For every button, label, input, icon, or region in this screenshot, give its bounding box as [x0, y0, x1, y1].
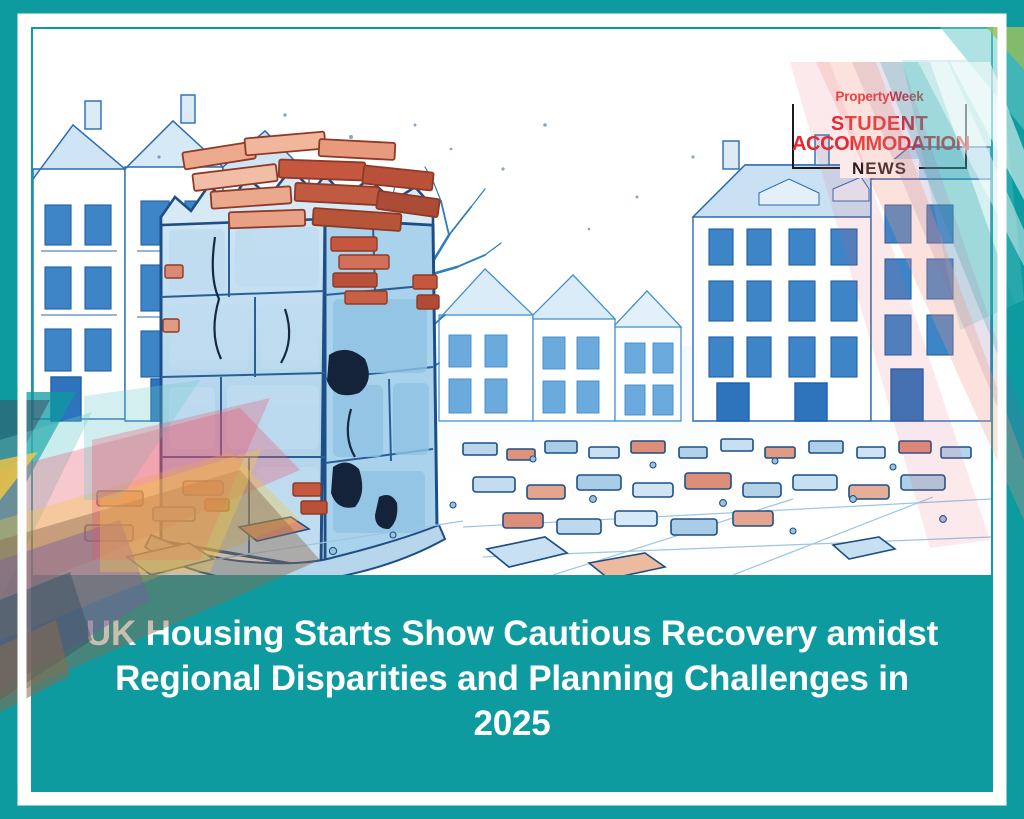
logo-property-week: PropertyWeek — [792, 89, 967, 104]
article-illustration: PropertyWeek STUDENT ACCOMMODATION NEWS — [33, 29, 991, 575]
social-card: PropertyWeek STUDENT ACCOMMODATION NEWS … — [0, 0, 1024, 819]
logo-line-news: NEWS — [792, 159, 967, 179]
logo-line-accommodation: ACCOMMODATION — [792, 133, 967, 156]
publication-logo: PropertyWeek STUDENT ACCOMMODATION NEWS — [792, 89, 967, 177]
centre-background-houses — [439, 269, 681, 421]
article-headline-band: UK Housing Starts Show Cautious Recovery… — [33, 575, 991, 792]
article-headline: UK Housing Starts Show Cautious Recovery… — [73, 612, 951, 746]
